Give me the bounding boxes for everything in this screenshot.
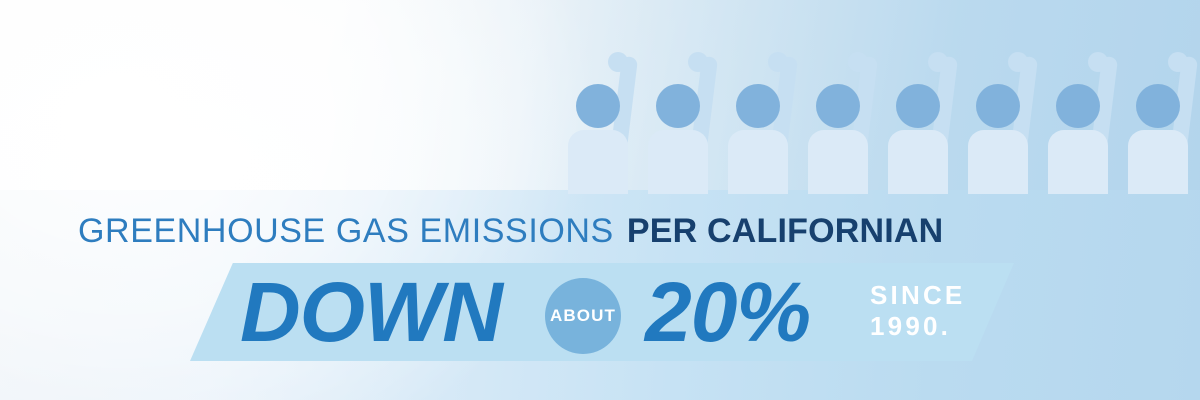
person-with-raised-hand-icon <box>728 52 806 194</box>
statistic-banner: DOWN ABOUT 20% SINCE 1990. <box>190 263 1014 361</box>
person-body <box>728 130 788 194</box>
person-head <box>896 84 940 128</box>
person-body <box>568 130 628 194</box>
person-head <box>576 84 620 128</box>
about-badge-label: ABOUT <box>550 306 616 326</box>
statistic-banner-content: DOWN ABOUT 20% SINCE 1990. <box>190 263 1014 361</box>
person-with-raised-hand-icon <box>888 52 966 194</box>
person-body <box>808 130 868 194</box>
since-label: SINCE <box>870 280 965 311</box>
person-head <box>816 84 860 128</box>
since-year: 1990. <box>870 311 965 342</box>
people-illustration <box>560 52 1200 194</box>
person-with-raised-hand-icon <box>968 52 1046 194</box>
page-title: GREENHOUSE GAS EMISSIONS PER CALIFORNIAN <box>78 210 943 252</box>
person-body <box>648 130 708 194</box>
direction-word: DOWN <box>240 269 502 355</box>
person-hand <box>608 52 628 72</box>
headline-light-text: GREENHOUSE GAS EMISSIONS <box>78 212 614 251</box>
percent-value: 20% <box>645 269 810 355</box>
person-with-raised-hand-icon <box>648 52 726 194</box>
person-with-raised-hand-icon <box>808 52 886 194</box>
person-with-raised-hand-icon <box>1128 52 1200 194</box>
person-with-raised-hand-icon <box>1048 52 1126 194</box>
person-hand <box>848 52 868 72</box>
person-head <box>656 84 700 128</box>
about-badge: ABOUT <box>545 278 621 354</box>
headline-bold-text: PER CALIFORNIAN <box>627 212 944 251</box>
person-body <box>968 130 1028 194</box>
person-head <box>1136 84 1180 128</box>
person-head <box>976 84 1020 128</box>
since-year-text: SINCE 1990. <box>870 280 965 342</box>
person-hand <box>1088 52 1108 72</box>
person-hand <box>928 52 948 72</box>
person-hand <box>768 52 788 72</box>
person-head <box>1056 84 1100 128</box>
person-body <box>1128 130 1188 194</box>
person-body <box>888 130 948 194</box>
person-hand <box>688 52 708 72</box>
person-hand <box>1008 52 1028 72</box>
person-body <box>1048 130 1108 194</box>
person-head <box>736 84 780 128</box>
infographic-canvas: GREENHOUSE GAS EMISSIONS PER CALIFORNIAN… <box>0 0 1200 400</box>
person-with-raised-hand-icon <box>568 52 646 194</box>
person-hand <box>1168 52 1188 72</box>
